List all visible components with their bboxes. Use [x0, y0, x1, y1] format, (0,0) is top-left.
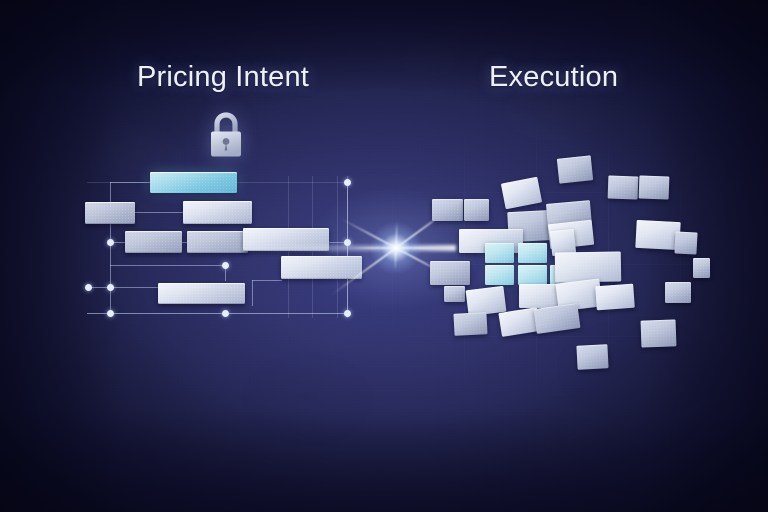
card-texture [464, 199, 489, 221]
execution-scatter-cluster [0, 0, 768, 512]
execution-card[interactable] [608, 175, 639, 199]
execution-card[interactable] [533, 303, 580, 334]
execution-card[interactable] [639, 175, 670, 199]
card-texture [444, 286, 465, 302]
execution-card[interactable] [576, 344, 608, 370]
card-texture [485, 243, 514, 263]
execution-card[interactable] [444, 286, 465, 302]
card-texture [518, 243, 547, 263]
execution-card[interactable] [432, 199, 463, 221]
lock-icon [206, 108, 246, 164]
card-texture [453, 312, 487, 336]
execution-card[interactable] [674, 231, 697, 254]
execution-card[interactable] [430, 261, 470, 285]
execution-card[interactable] [555, 251, 622, 282]
page-title-right: Execution [489, 61, 618, 94]
card-texture [430, 261, 470, 285]
execution-card[interactable] [518, 265, 547, 285]
card-texture [485, 265, 514, 285]
page-title-left: Pricing Intent [137, 61, 309, 94]
execution-card[interactable] [485, 265, 514, 285]
card-texture [501, 177, 542, 210]
execution-card[interactable] [665, 282, 691, 303]
execution-card[interactable] [693, 258, 710, 278]
execution-card[interactable] [453, 312, 487, 336]
card-texture [641, 319, 677, 347]
card-texture [557, 155, 593, 183]
card-texture [432, 199, 463, 221]
card-texture [595, 284, 635, 311]
card-texture [693, 258, 710, 278]
scene-canvas: Pricing Intent Execution [0, 0, 768, 512]
execution-card[interactable] [557, 155, 593, 183]
card-texture [639, 175, 670, 199]
execution-card[interactable] [464, 199, 489, 221]
execution-card[interactable] [518, 243, 547, 263]
card-texture [518, 265, 547, 285]
card-texture [665, 282, 691, 303]
card-texture [608, 175, 639, 199]
card-texture [674, 231, 697, 254]
execution-card[interactable] [485, 243, 514, 263]
card-texture [533, 303, 580, 334]
execution-card[interactable] [641, 319, 677, 347]
card-texture [555, 251, 622, 282]
execution-card[interactable] [501, 177, 542, 210]
execution-card[interactable] [595, 284, 635, 311]
card-texture [576, 344, 608, 370]
